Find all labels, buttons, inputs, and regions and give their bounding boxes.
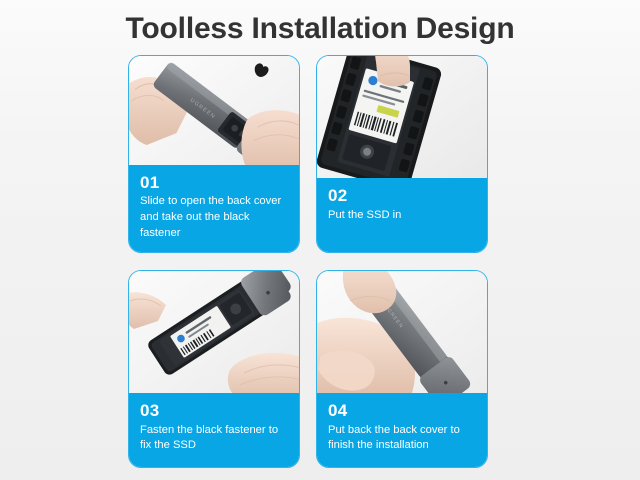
- step-card-03[interactable]: UGREEN: [128, 270, 300, 468]
- step-number-01: 01: [140, 173, 288, 193]
- step-photo-02: [317, 56, 487, 178]
- step-card-01[interactable]: UGREEN 01 Slide to open the bac: [128, 55, 300, 253]
- installation-steps-grid: UGREEN 01 Slide to open the bac: [128, 55, 488, 467]
- photo-hand-fastening-black-fastener-on-ssd: UGREEN: [129, 271, 299, 393]
- step-photo-04: UGREEN: [317, 271, 487, 393]
- step-text-01: Slide to open the back cover and take ou…: [140, 194, 288, 242]
- photo-m2-ssd-inserted-into-black-tray: [317, 56, 487, 178]
- step-text-04: Put back the back cover to finish the in…: [328, 423, 476, 455]
- step-caption-02: 02 Put the SSD in: [317, 178, 487, 252]
- step-number-04: 04: [328, 401, 476, 421]
- step-number-02: 02: [328, 186, 476, 206]
- step-text-02: Put the SSD in: [328, 208, 476, 224]
- photo-hands-sliding-open-ssd-enclosure: UGREEN: [129, 56, 299, 165]
- step-caption-04: 04 Put back the back cover to finish the…: [317, 393, 487, 467]
- page-title: Toolless Installation Design: [0, 0, 640, 45]
- step-caption-01: 01 Slide to open the back cover and take…: [129, 165, 299, 252]
- photo-hand-pushing-back-cover-onto-enclosure: UGREEN: [317, 271, 487, 393]
- step-text-03: Fasten the black fastener to fix the SSD: [140, 423, 288, 455]
- step-number-03: 03: [140, 401, 288, 421]
- step-card-02[interactable]: 02 Put the SSD in: [316, 55, 488, 253]
- step-card-04[interactable]: UGREEN 04 Put back the back cover to fin…: [316, 270, 488, 468]
- step-caption-03: 03 Fasten the black fastener to fix the …: [129, 393, 299, 467]
- step-photo-01: UGREEN: [129, 56, 299, 165]
- step-photo-03: UGREEN: [129, 271, 299, 393]
